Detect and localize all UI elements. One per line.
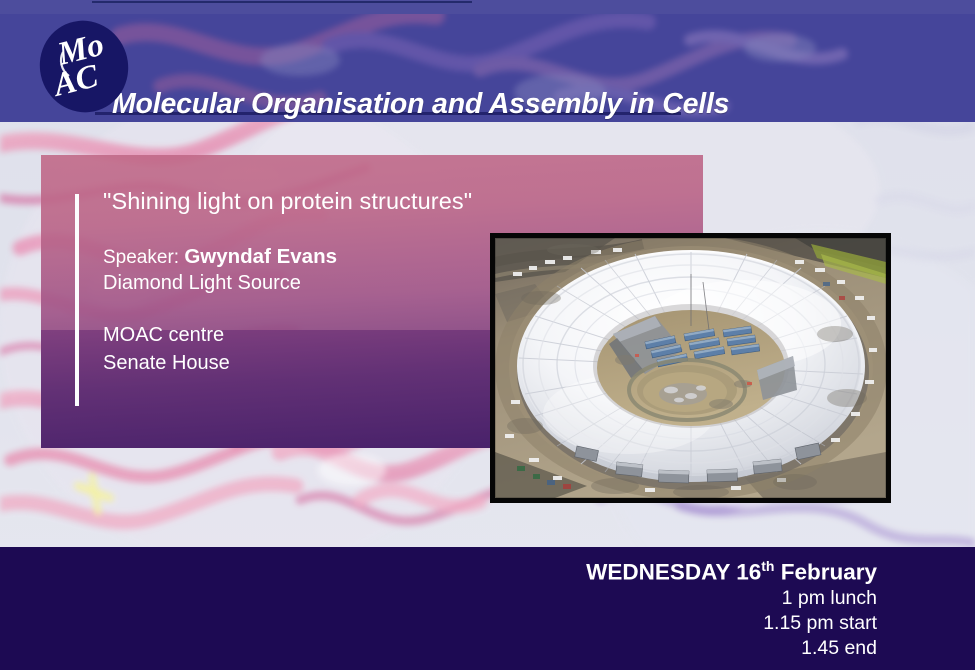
- moac-logo: Mo AC: [37, 18, 131, 115]
- seminar-info-card-lower: [41, 330, 490, 448]
- venue-line-1: MOAC centre: [103, 324, 224, 347]
- header-band: Molecular Organisation and Assembly in C…: [0, 14, 975, 122]
- event-date-prefix: WEDNESDAY 16: [586, 560, 761, 585]
- schedule-start: 1.15 pm start: [763, 612, 877, 635]
- speaker-line: Speaker: Gwyndaf Evans: [103, 245, 337, 269]
- event-date-month: February: [774, 560, 877, 585]
- speaker-label: Speaker:: [103, 247, 184, 268]
- slide-canvas: Molecular Organisation and Assembly in C…: [0, 0, 975, 670]
- event-date: WEDNESDAY 16th February: [586, 558, 877, 586]
- diamond-light-source-photo: [490, 233, 891, 503]
- card-accent-bar: [75, 194, 79, 406]
- event-date-ordinal: th: [761, 558, 774, 574]
- schedule-lunch: 1 pm lunch: [782, 587, 877, 610]
- talk-title: "Shining light on protein structures": [103, 188, 472, 215]
- speaker-affiliation: Diamond Light Source: [103, 272, 301, 295]
- venue-line-2: Senate House: [103, 352, 230, 375]
- speaker-name: Gwyndaf Evans: [184, 245, 337, 268]
- page-title: Molecular Organisation and Assembly in C…: [112, 88, 729, 121]
- top-divider-rule: [92, 1, 472, 3]
- schedule-end: 1.45 end: [801, 637, 877, 660]
